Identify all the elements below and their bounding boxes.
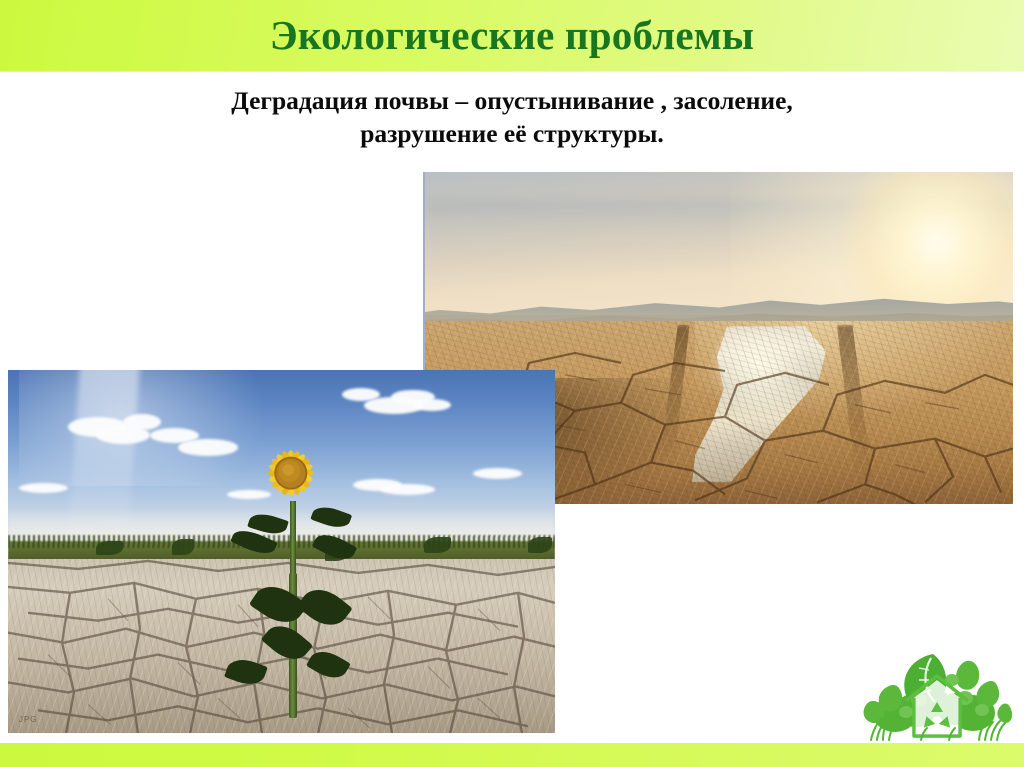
cloud (19, 483, 68, 493)
page-title: Экологические проблемы (0, 0, 1024, 72)
sunflower-drought-photo: JPG (8, 370, 555, 733)
eco-house-logo (861, 640, 1013, 746)
withered-plant (96, 541, 123, 556)
sunflower-head (232, 435, 350, 511)
cloud (178, 439, 238, 456)
cloud (123, 414, 161, 430)
presentation-slide: Экологические проблемы Деградация почвы … (0, 0, 1024, 767)
withered-plant (172, 539, 194, 555)
subtitle-line-2: разрушение её структуры. (85, 117, 939, 150)
bottom-band (0, 743, 1024, 767)
slide-subtitle: Деградация почвы – опустынивание , засол… (85, 84, 939, 150)
sunflower-upper-stem (290, 501, 297, 581)
subtitle-line-1: Деградация почвы – опустынивание , засол… (85, 84, 939, 117)
photo-watermark: JPG (19, 715, 38, 724)
cloud (473, 468, 522, 479)
